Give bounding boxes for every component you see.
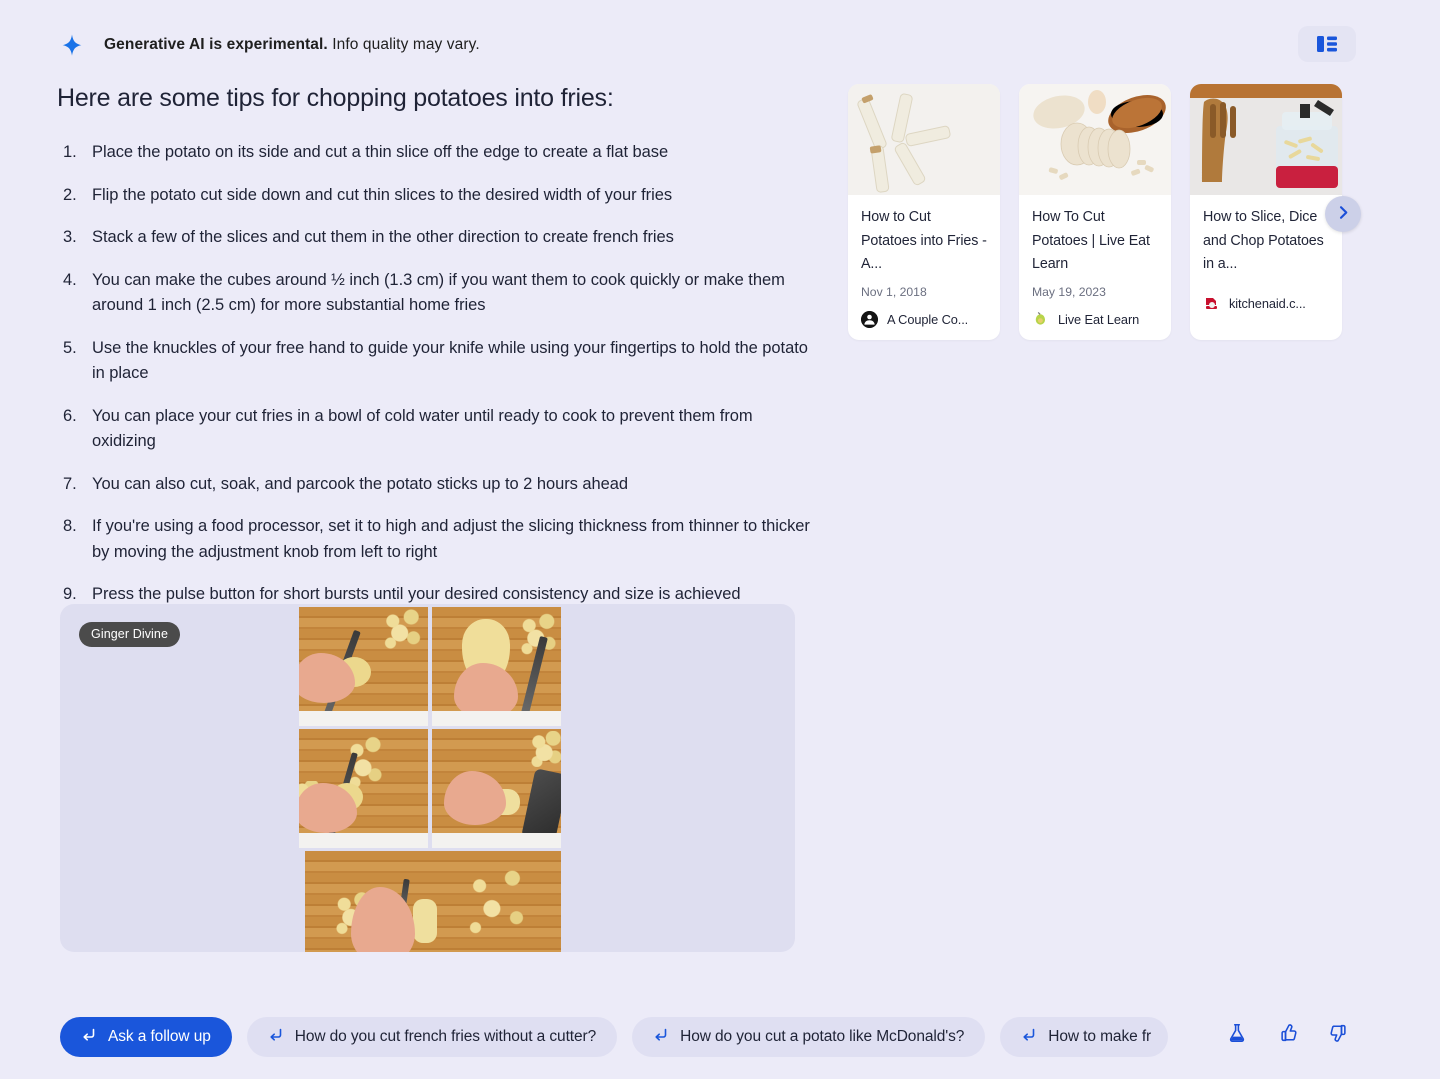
source-site-name: Live Eat Learn (1058, 312, 1139, 327)
thumbs-up-button[interactable] (1275, 1021, 1301, 1047)
source-card[interactable]: How To Cut Potatoes | Live Eat Learn May… (1019, 84, 1171, 340)
ai-disclaimer-text: Generative AI is experimental. Info qual… (104, 36, 480, 54)
video-frame (432, 607, 561, 726)
chip-label: How to make fr (1048, 1028, 1151, 1046)
tips-list: Place the potato on its side and cut a t… (57, 140, 817, 608)
chip-label: How do you cut french fries without a cu… (295, 1028, 596, 1046)
followup-chips: Ask a follow up How do you cut french fr… (60, 1017, 1168, 1057)
thumbs-up-icon (1277, 1022, 1299, 1047)
search-ai-result-page: Generative AI is experimental. Info qual… (0, 0, 1440, 1079)
chip-label: Ask a follow up (108, 1028, 211, 1046)
chip-label: How do you cut a potato like McDonald's? (680, 1028, 964, 1046)
kitchenaid-mixer-favicon (1203, 295, 1220, 312)
sparkle-icon (57, 30, 87, 60)
followup-arrow-icon (81, 1027, 97, 1048)
followup-arrow-icon (653, 1027, 669, 1048)
followup-arrow-icon (1021, 1027, 1037, 1048)
chevron-right-icon (1336, 205, 1351, 223)
list-item: You can place your cut fries in a bowl o… (57, 404, 817, 455)
source-title: How to Cut Potatoes into Fries - A... (861, 206, 987, 277)
footer: Ask a follow up How do you cut french fr… (0, 1017, 1440, 1061)
source-thumbnail (848, 84, 1000, 195)
list-item: Place the potato on its side and cut a t… (57, 140, 817, 166)
carousel-next-button[interactable] (1325, 196, 1361, 232)
labs-flask-button[interactable] (1224, 1021, 1250, 1047)
followup-chip[interactable]: How do you cut a potato like McDonald's? (632, 1017, 985, 1057)
source-card[interactable]: How to Cut Potatoes into Fries - A... No… (848, 84, 1000, 340)
source-thumbnail (1190, 84, 1342, 195)
header: Generative AI is experimental. Info qual… (0, 0, 1440, 88)
followup-chip[interactable]: How to make fr (1000, 1017, 1168, 1057)
source-date: May 19, 2023 (1032, 285, 1158, 299)
source-site-name: kitchenaid.c... (1229, 296, 1306, 311)
source-meta: A Couple Co... (861, 311, 987, 328)
list-item: Use the knuckles of your free hand to gu… (57, 336, 817, 387)
video-frame (305, 851, 561, 952)
ask-follow-up-button[interactable]: Ask a follow up (60, 1017, 232, 1057)
source-title: How to Slice, Dice and Chop Potatoes in … (1203, 206, 1329, 277)
video-frame-collage (296, 604, 561, 952)
page-title: Here are some tips for chopping potatoes… (57, 84, 817, 113)
ai-answer: Here are some tips for chopping potatoes… (57, 84, 817, 625)
source-meta: Live Eat Learn (1032, 311, 1158, 328)
list-item: Stack a few of the slices and cut them i… (57, 225, 817, 251)
video-frame (299, 607, 428, 726)
source-thumbnail (1019, 84, 1171, 195)
live-eat-learn-avocado-favicon (1032, 311, 1049, 328)
source-card[interactable]: How to Slice, Dice and Chop Potatoes in … (1190, 84, 1342, 340)
followup-arrow-icon (268, 1027, 284, 1048)
video-frame (299, 729, 428, 848)
feedback-actions (1224, 1021, 1352, 1047)
labs-flask-icon (1226, 1022, 1248, 1047)
video-preview-card[interactable]: Ginger Divine (60, 604, 795, 952)
thumbs-down-button[interactable] (1326, 1021, 1352, 1047)
source-cards-carousel: How to Cut Potatoes into Fries - A... No… (848, 84, 1342, 340)
thumbs-down-icon (1328, 1022, 1350, 1047)
ai-disclaimer: Generative AI is experimental. Info qual… (57, 30, 480, 60)
list-item: Flip the potato cut side down and cut th… (57, 183, 817, 209)
list-item: If you're using a food processor, set it… (57, 514, 817, 565)
ai-disclaimer-light: Info quality may vary. (328, 36, 480, 53)
list-item: You can make the cubes around ½ inch (1.… (57, 268, 817, 319)
followup-chip[interactable]: How do you cut french fries without a cu… (247, 1017, 617, 1057)
layout-view-icon (1316, 35, 1338, 53)
a-couple-cooks-favicon (861, 311, 878, 328)
source-meta: kitchenaid.c... (1203, 295, 1329, 312)
list-item: You can also cut, soak, and parcook the … (57, 472, 817, 498)
ai-disclaimer-bold: Generative AI is experimental. (104, 36, 328, 53)
layout-view-icon-button[interactable] (1298, 26, 1356, 62)
source-site-name: A Couple Co... (887, 312, 968, 327)
source-date: Nov 1, 2018 (861, 285, 987, 299)
source-title: How To Cut Potatoes | Live Eat Learn (1032, 206, 1158, 277)
video-frame (432, 729, 561, 848)
video-source-badge: Ginger Divine (79, 622, 180, 647)
